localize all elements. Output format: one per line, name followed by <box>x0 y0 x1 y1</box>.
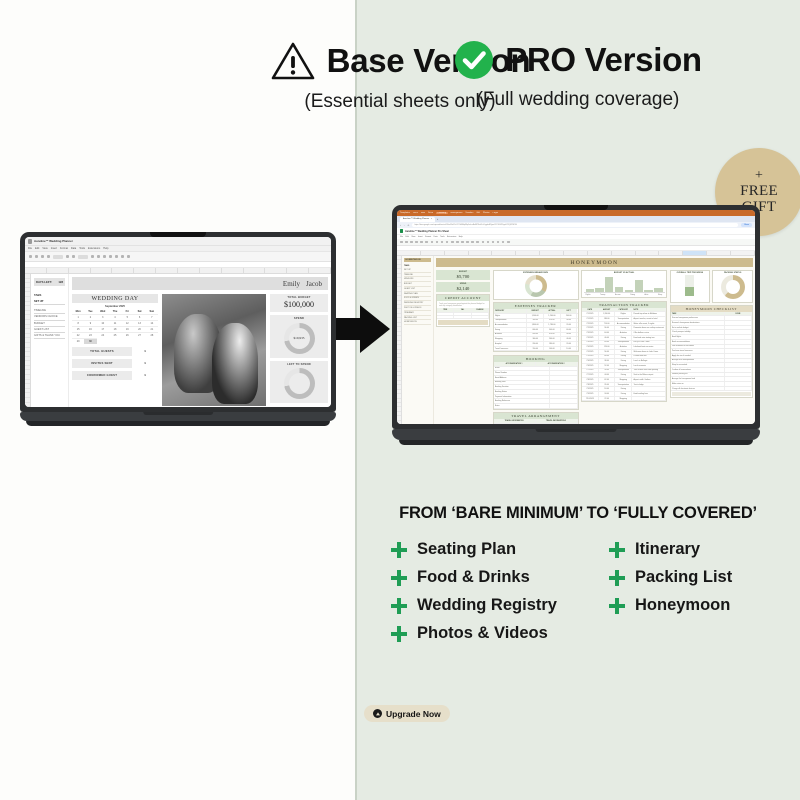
share-button[interactable]: Share <box>741 223 752 227</box>
cell-left: 40.00 <box>561 333 578 337</box>
column-header-cell[interactable] <box>200 268 222 273</box>
feature-itinerary: Itinerary <box>608 540 780 559</box>
cell-category: Transportation <box>494 319 528 323</box>
column-header-cell[interactable] <box>69 268 91 273</box>
bar <box>654 288 662 292</box>
col-done: DONE <box>725 312 752 316</box>
paint-format-icon[interactable] <box>415 241 418 244</box>
print-icon[interactable] <box>410 241 413 244</box>
card-left-to-spend: LEFT TO SPEND <box>270 361 328 404</box>
kpi-value: $5,700 <box>436 274 490 279</box>
sheets-doc-icon <box>400 229 403 233</box>
pro-doc-title: Aureline™ Wedding Planner Pro Sheet <box>405 230 449 233</box>
column-header-cell[interactable] <box>112 268 134 273</box>
cell-field: Notes <box>494 404 550 408</box>
column-header-cell[interactable] <box>731 251 755 255</box>
bar <box>635 280 643 292</box>
feature-label: Honeymoon <box>635 596 730 615</box>
menu-data[interactable]: Data <box>71 247 76 250</box>
cell-left: 240.00 <box>561 314 578 318</box>
bookmark-item[interactable]: Mail <box>421 212 425 214</box>
sheet-tab-gifts-thank-you[interactable]: GIFTS & THANK YOU <box>34 333 65 339</box>
table-row: Travel Insurance 150.00 140.00 10.00 <box>494 347 578 352</box>
table-row: Notes <box>494 404 578 409</box>
sheet-titlebar: Aureline™ Wedding Planner Pro Sheet <box>397 228 755 235</box>
pro-pitch-headline: FROM ‘BARE MINIMUM’ TO ‘FULLY COVERED’ <box>356 504 800 523</box>
bar <box>644 290 652 292</box>
plus-icon <box>608 569 626 587</box>
col-left: LEFT <box>561 309 578 313</box>
ring-chart <box>721 275 745 299</box>
bar <box>595 288 603 292</box>
menu-data[interactable]: Data <box>434 236 438 238</box>
chart-title: BUDGET VS ACTUAL <box>584 272 665 274</box>
cell-budget: 1,800.00 <box>527 323 544 327</box>
wedding-couple-photo <box>162 294 266 406</box>
col-travel-info-2: TRAVEL INFORMATION 2 <box>536 419 578 423</box>
bold-icon[interactable] <box>446 241 449 244</box>
column-header-cell[interactable] <box>397 251 421 255</box>
bar <box>586 289 594 292</box>
bookmark-item[interactable]: Legal <box>493 212 498 214</box>
close-icon[interactable]: × <box>431 218 432 220</box>
bookmark-item[interactable]: Photos <box>483 212 490 214</box>
percent-icon[interactable] <box>72 255 75 258</box>
italic-icon[interactable] <box>97 255 100 258</box>
feature-packing-list: Packing List <box>608 568 780 587</box>
base-spreadsheet-screen[interactable]: Aureline™ Wedding Planner File Edit View… <box>25 237 331 407</box>
col-budget: BUDGET <box>527 309 544 313</box>
pro-version-subtitle: (Full wedding coverage) <box>356 89 800 111</box>
column-header-cell[interactable] <box>222 268 244 273</box>
credit-progress-bar <box>438 320 488 325</box>
new-tab-icon[interactable]: + <box>437 218 438 221</box>
feature-honeymoon: Honeymoon <box>608 596 780 615</box>
column-header-cell[interactable] <box>469 251 493 255</box>
card-label: TOTAL BUDGET <box>270 296 328 299</box>
menu-view[interactable]: View <box>411 236 415 238</box>
column-header-cell[interactable] <box>25 268 47 273</box>
menu-edit[interactable]: Edit <box>406 236 409 238</box>
feature-wedding-registry: Wedding Registry <box>390 596 608 615</box>
cell-budget: 1,500.00 <box>527 314 544 318</box>
cell-left: 40.00 <box>561 319 578 323</box>
base-dashboard: Emily Jacob WEDDING DAY September 2025 M… <box>69 274 331 407</box>
fill-color-icon[interactable] <box>109 255 112 258</box>
travel-arrangement-panel: TRAVEL ARRANGEMENT TRAVEL INFORMATION TR… <box>493 412 579 424</box>
cell-actual: 540.00 <box>544 328 561 332</box>
feature-label: Packing List <box>635 568 732 587</box>
laptop-foot <box>26 421 329 426</box>
feature-label: Seating Plan <box>417 540 516 559</box>
borders-icon[interactable] <box>471 241 474 244</box>
plus-icon <box>390 541 408 559</box>
align-icon[interactable] <box>482 241 485 244</box>
bookmark-item[interactable]: Templates <box>400 212 410 214</box>
stat-label: INVITES SENT <box>72 359 132 368</box>
redo-icon[interactable] <box>405 241 408 244</box>
card-label: SPEND <box>270 317 328 320</box>
cell-budget: 450.00 <box>527 333 544 337</box>
cell-budget: 350.00 <box>527 319 544 323</box>
calendar-day[interactable]: 25 <box>109 332 121 338</box>
stat-value: 1 <box>132 347 158 356</box>
calendar-day[interactable]: 24 <box>97 332 109 338</box>
warning-triangle-icon <box>270 40 316 82</box>
pro-dashboard: HONEYMOON BUDGET $5,700 SPEND $2, <box>434 256 755 424</box>
col-date: DATE <box>582 308 599 312</box>
bride-name: Emily <box>283 280 300 288</box>
sheet-toolbar[interactable] <box>25 252 331 262</box>
card-label: LEFT TO SPEND <box>270 363 328 366</box>
menu-insert[interactable]: Insert <box>51 247 57 250</box>
font-select[interactable] <box>78 255 88 259</box>
credit-account-block: CREDIT ACCOUNT Track your honeymoon spen… <box>436 294 490 326</box>
honeymoon-checklist-panel: HONEYMOON CHECKLIST TASK DONE Discuss ho… <box>670 305 754 399</box>
menu-view[interactable]: View <box>42 247 47 250</box>
left-to-spend-donut-chart <box>284 368 315 399</box>
upgrade-now-button[interactable]: Upgrade Now <box>364 705 450 722</box>
bookmark-item[interactable]: Honeymoon <box>451 212 463 214</box>
bookmark-item[interactable]: Gift <box>476 212 479 214</box>
print-icon[interactable] <box>41 255 44 258</box>
chart-title: EXPENSES BREAKDOWN <box>495 272 576 274</box>
menu-help[interactable]: Help <box>459 236 463 238</box>
spend-donut-chart: $19,935 <box>284 323 315 354</box>
col-accommodation-2: ACCOMMODATION 2 <box>536 362 578 366</box>
browser-tab-title: Aureline™ Wedding Planner <box>403 218 429 220</box>
column-header-cell[interactable] <box>612 251 636 255</box>
plus-icon <box>390 625 408 643</box>
free-gift-plus: + <box>755 169 763 183</box>
comment-icon[interactable] <box>497 241 500 244</box>
column-header-cell-selected[interactable] <box>683 251 707 255</box>
sidebar-section-label: TABS <box>404 265 431 267</box>
redo-icon[interactable] <box>35 255 38 258</box>
table-row: 7/10/202522.00Shopping <box>582 397 666 402</box>
groom-name: Jacob <box>306 280 322 288</box>
menu-format[interactable]: Format <box>60 247 68 250</box>
promo-graphic: Base Version (Essential sheets only) PRO… <box>0 0 800 800</box>
column-header-cell[interactable] <box>707 251 731 255</box>
cell-left: 40.00 <box>561 337 578 341</box>
plus-icon <box>390 569 408 587</box>
cell-actual: 140.00 <box>544 347 561 351</box>
fill-color-icon[interactable] <box>466 241 469 244</box>
couple-name-banner: Emily Jacob <box>72 277 328 290</box>
menu-insert[interactable]: Insert <box>418 236 423 238</box>
plus-icon <box>608 541 626 559</box>
decimal-icon[interactable] <box>436 241 439 244</box>
wedding-day-calendar: WEDDING DAY September 2025 Mon Tue Wed T… <box>72 294 158 406</box>
bookmark-item[interactable]: Vendors <box>465 212 473 214</box>
menu-tools[interactable]: Tools <box>79 247 85 250</box>
column-header-cell[interactable] <box>421 251 445 255</box>
browser-tab-active[interactable]: Aureline™ Wedding Planner × <box>400 217 435 222</box>
card-spend: SPEND $19,935 <box>270 315 328 358</box>
progress-tube <box>685 275 694 296</box>
cell-left: 60.00 <box>561 328 578 332</box>
laptop-foot <box>399 440 752 445</box>
stat-confirmed-guest: CONFIRMED GUEST 1 <box>72 371 158 380</box>
cell-field: Phone Number <box>494 371 550 375</box>
paint-format-icon[interactable] <box>47 255 50 258</box>
cell-category: Flights <box>494 314 528 318</box>
undo-icon[interactable] <box>400 241 403 244</box>
col-note: NOTE <box>632 308 666 312</box>
cell-category: Accommodation <box>494 323 528 327</box>
menu-format[interactable]: Format <box>425 236 431 238</box>
stat-value: 1 <box>132 371 158 380</box>
cell-left: 10.00 <box>561 347 578 351</box>
column-header-cell[interactable] <box>309 268 331 273</box>
feature-food-drinks: Food & Drinks <box>390 568 608 587</box>
back-icon[interactable]: ‹ <box>400 224 401 227</box>
pro-spreadsheet-screen[interactable]: Templates Docs Mail Drive Planning Honey… <box>397 210 755 424</box>
stat-label: CONFIRMED GUEST <box>72 371 132 380</box>
bar <box>605 277 613 293</box>
italic-icon[interactable] <box>451 241 454 244</box>
honeymoon-section-title: HONEYMOON <box>436 258 753 267</box>
chart-axis-labels: FlightsTransp.Accom.DiningActiv.Shop. <box>584 293 665 296</box>
upgrade-arrow-icon <box>373 709 382 718</box>
cell-field: Booking Reference <box>494 399 550 403</box>
kpi-value: $2,140 <box>436 286 490 291</box>
forward-icon[interactable]: › <box>404 224 405 227</box>
col-category: CATEGORY <box>494 309 528 313</box>
align-icon[interactable] <box>127 255 130 258</box>
menu-file[interactable]: File <box>28 247 32 250</box>
feature-label: Wedding Registry <box>417 596 557 615</box>
currency-icon[interactable] <box>425 241 428 244</box>
stat-total-guests: TOTAL GUESTS 1 <box>72 347 158 356</box>
merge-icon[interactable] <box>121 255 124 258</box>
cell-field: Name <box>494 367 550 371</box>
feature-label: Food & Drinks <box>417 568 530 587</box>
pro-version-laptop: Templates Docs Mail Drive Planning Honey… <box>392 205 760 445</box>
sheet-toolbar[interactable] <box>397 239 755 246</box>
bookmark-item[interactable]: Docs <box>413 212 418 214</box>
bar <box>615 287 623 292</box>
cell-field: Booking Date <box>494 381 550 385</box>
credit-account-note: Track your honeymoon spend against the p… <box>437 301 489 308</box>
cell-left: 20.00 <box>561 323 578 327</box>
cell-budget: 150.00 <box>527 347 544 351</box>
calendar-day[interactable]: 28 <box>146 332 158 338</box>
column-header-cell[interactable] <box>636 251 660 255</box>
overall-trip-progress-gauge: OVERALL TRIP PROGRESS <box>670 270 711 303</box>
booking-panel: BOOKING ACCOMMODATION 1 ACCOMMODATION 2 … <box>493 355 579 410</box>
sidebar-item-honeymoon[interactable]: HONEYMOON <box>404 320 431 325</box>
percent-icon[interactable] <box>431 241 434 244</box>
chart-title: PACKING STATUS <box>715 272 751 274</box>
cell-category: Travel Insurance <box>494 347 528 351</box>
col-task: TASK <box>671 312 725 316</box>
cell-budget: 200.00 <box>527 342 544 346</box>
expenses-tracker-panel: EXPENSES TRACKER CATEGORY BUDGET ACTUAL … <box>493 302 579 352</box>
column-header-cell[interactable] <box>287 268 309 273</box>
column-header-cell[interactable] <box>156 268 178 273</box>
address-bar[interactable]: https://docs.google.com/spreadsheets/d/1… <box>412 223 738 227</box>
expenses-breakdown-chart: EXPENSES BREAKDOWN <box>493 270 579 300</box>
feature-label: Itinerary <box>635 540 700 559</box>
tabs-heading: TABS <box>34 293 65 297</box>
base-version-laptop: Aureline™ Wedding Planner File Edit View… <box>20 232 336 426</box>
pro-sheet-sidebar: HONEYMOON TABS SET UP TIMELINE VENDORS B… <box>402 256 434 424</box>
text-color-icon[interactable] <box>103 255 106 258</box>
kpi-spend: SPEND $2,140 <box>436 282 490 292</box>
calendar-day[interactable]: 29 <box>72 338 84 344</box>
cell-category: Hospital <box>494 342 528 346</box>
cell-field: Booking Duration <box>494 385 550 389</box>
cell-category: Dining <box>494 328 528 332</box>
reload-icon[interactable]: ⟳ <box>408 224 410 227</box>
column-header-cell[interactable] <box>47 268 69 273</box>
cell-left: 20.00 <box>561 342 578 346</box>
calendar-title: WEDDING DAY <box>72 294 158 303</box>
cell-actual: 1,260.00 <box>544 314 561 318</box>
card-value: $100,000 <box>270 300 328 309</box>
col-category: CATEGORY <box>615 308 632 312</box>
table-row: Charge all electronic devices <box>671 387 753 392</box>
column-header-cell[interactable] <box>564 251 588 255</box>
menu-help[interactable]: Help <box>103 247 108 250</box>
menu-extensions[interactable]: Extensions <box>88 247 100 250</box>
chart-title: OVERALL TRIP PROGRESS <box>672 272 708 274</box>
pro-version-heading: PRO Version (Full wedding coverage) <box>356 40 800 111</box>
table-row <box>437 316 489 319</box>
bookmark-item-active[interactable]: Planning <box>436 212 448 214</box>
calendar-day[interactable]: 27 <box>133 332 145 338</box>
menu-edit[interactable]: Edit <box>35 247 39 250</box>
bold-icon[interactable] <box>91 255 94 258</box>
column-header-cell[interactable] <box>265 268 287 273</box>
cell-actual: 410.00 <box>544 333 561 337</box>
bar <box>625 290 633 292</box>
chart-icon[interactable] <box>502 241 505 244</box>
column-header-cell[interactable] <box>540 251 564 255</box>
budget-cards: TOTAL BUDGET $100,000 SPEND $19,935 <box>270 294 328 406</box>
stat-invites-sent: INVITES SENT 1 <box>72 359 158 368</box>
currency-icon[interactable] <box>66 255 69 258</box>
plus-icon <box>390 597 408 615</box>
donut-chart <box>525 275 547 297</box>
bookmark-item[interactable]: Drive <box>428 212 433 214</box>
cell-actual: 310.00 <box>544 319 561 323</box>
pro-feature-list: Seating Plan Itinerary Food & Drinks Pac… <box>390 540 780 643</box>
cell-budget: 300.00 <box>527 337 544 341</box>
link-icon[interactable] <box>492 241 495 244</box>
text-color-icon[interactable] <box>461 241 464 244</box>
cell-field: Email Address <box>494 376 550 380</box>
spend-donut-value: $19,935 <box>293 336 304 340</box>
calendar-day-selected[interactable]: 30 <box>84 338 96 344</box>
base-doc-title: Aureline™ Wedding Planner <box>34 239 73 243</box>
wrap-icon[interactable] <box>487 241 490 244</box>
packing-status-ring: PACKING STATUS <box>712 270 753 303</box>
feature-seating-plan: Seating Plan <box>390 540 608 559</box>
column-header-cell[interactable] <box>178 268 200 273</box>
strikethrough-icon[interactable] <box>456 241 459 244</box>
undo-icon[interactable] <box>29 255 32 258</box>
cell-category: Activities <box>494 333 528 337</box>
stat-value: 1 <box>132 359 158 368</box>
column-header-cell[interactable] <box>445 251 469 255</box>
cell-category: Shopping <box>494 337 528 341</box>
kpi-budget: BUDGET $5,700 <box>436 270 490 280</box>
cell-field: Booking Status <box>494 390 550 394</box>
cell-actual: 1,780.00 <box>544 323 561 327</box>
font-select[interactable] <box>441 241 444 244</box>
laptop-base <box>392 429 760 440</box>
col-amount: AMOUNT <box>599 308 616 312</box>
sheet-titlebar: Aureline™ Wedding Planner <box>25 237 331 246</box>
upgrade-now-label: Upgrade Now <box>386 709 441 719</box>
feature-photos-videos: Photos & Videos <box>390 624 608 643</box>
sheets-doc-icon <box>28 239 32 244</box>
col-travel-info-1: TRAVEL INFORMATION <box>494 419 536 423</box>
cell-actual: 260.00 <box>544 337 561 341</box>
panel-divider <box>355 0 357 800</box>
column-header-cell[interactable] <box>91 268 113 273</box>
borders-icon[interactable] <box>115 255 118 258</box>
days-left-value: 128 <box>58 280 63 284</box>
stat-label: TOTAL GUESTS <box>72 347 132 356</box>
zoom-select[interactable] <box>53 255 63 259</box>
column-header-cell[interactable] <box>659 251 683 255</box>
column-header-cell[interactable] <box>134 268 156 273</box>
column-header-cell[interactable] <box>244 268 266 273</box>
pro-version-title: PRO Version <box>505 41 702 79</box>
bar-chart <box>584 275 665 293</box>
column-header-cell[interactable] <box>492 251 516 255</box>
column-header-cell[interactable] <box>516 251 540 255</box>
merge-icon[interactable] <box>476 241 479 244</box>
column-header-cell[interactable] <box>588 251 612 255</box>
menu-file[interactable]: File <box>400 236 403 238</box>
days-left-widget: DAYS LEFT: 128 <box>34 278 65 286</box>
cell-budget: 600.00 <box>527 328 544 332</box>
green-check-circle-icon <box>454 40 494 80</box>
feature-label: Photos & Videos <box>417 624 548 643</box>
cell-actual: 180.00 <box>544 342 561 346</box>
col-accommodation-1: ACCOMMODATION 1 <box>494 362 536 366</box>
calendar-grid[interactable]: Mon Tue Wed Thu Fri Sat Sun 1 2 3 <box>72 309 158 344</box>
days-left-label: DAYS LEFT: <box>36 280 52 284</box>
zoom-select[interactable] <box>420 241 423 244</box>
menu-extensions[interactable]: Extensions <box>447 236 456 238</box>
laptop-base <box>20 412 336 421</box>
plus-icon <box>608 597 626 615</box>
sidebar-heading: HONEYMOON <box>404 258 431 262</box>
menu-tools[interactable]: Tools <box>440 236 444 238</box>
transaction-tracker-panel: TRANSACTION TRACKER DATE AMOUNT CATEGORY… <box>581 301 667 403</box>
base-sheet-sidebar: DAYS LEFT: 128 TABS SET UP TIMELINE VEND… <box>31 274 69 407</box>
col-actual: ACTUAL <box>544 309 561 313</box>
budget-vs-actual-chart: BUDGET VS ACTUAL <box>581 270 667 299</box>
cell-field: Payment Information <box>494 395 550 399</box>
calendar-day[interactable]: 26 <box>121 332 133 338</box>
filter-icon[interactable] <box>507 241 510 244</box>
checklist-progress-bar <box>672 392 752 396</box>
card-total-budget: TOTAL BUDGET $100,000 <box>270 294 328 312</box>
free-gift-line1: FREE <box>740 184 778 199</box>
